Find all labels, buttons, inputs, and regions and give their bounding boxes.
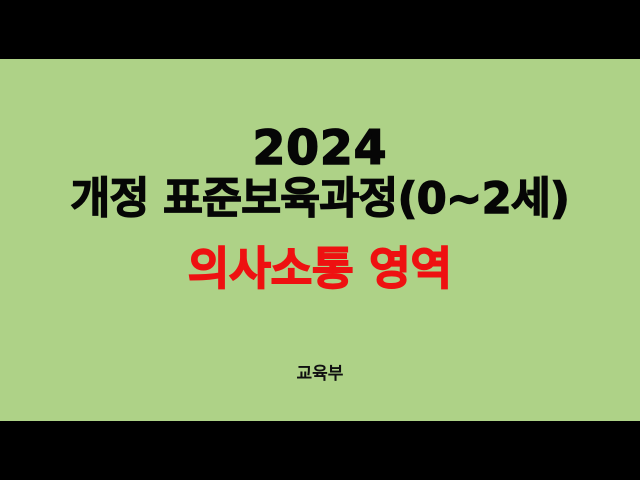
slide-issuer: 교육부 [0, 364, 640, 384]
slide-domain-title: 의사소통 영역 [0, 241, 640, 296]
slide-canvas: 2024 개정 표준보육과정(0~2세) 의사소통 영역 교육부 [0, 59, 640, 421]
letterbox-top-bar [0, 0, 640, 59]
letterbox-bottom-bar [0, 421, 640, 480]
video-slide-frame: 2024 개정 표준보육과정(0~2세) 의사소통 영역 교육부 [0, 0, 640, 480]
slide-year: 2024 [0, 125, 640, 172]
slide-course-title: 개정 표준보육과정(0~2세) [0, 173, 640, 225]
